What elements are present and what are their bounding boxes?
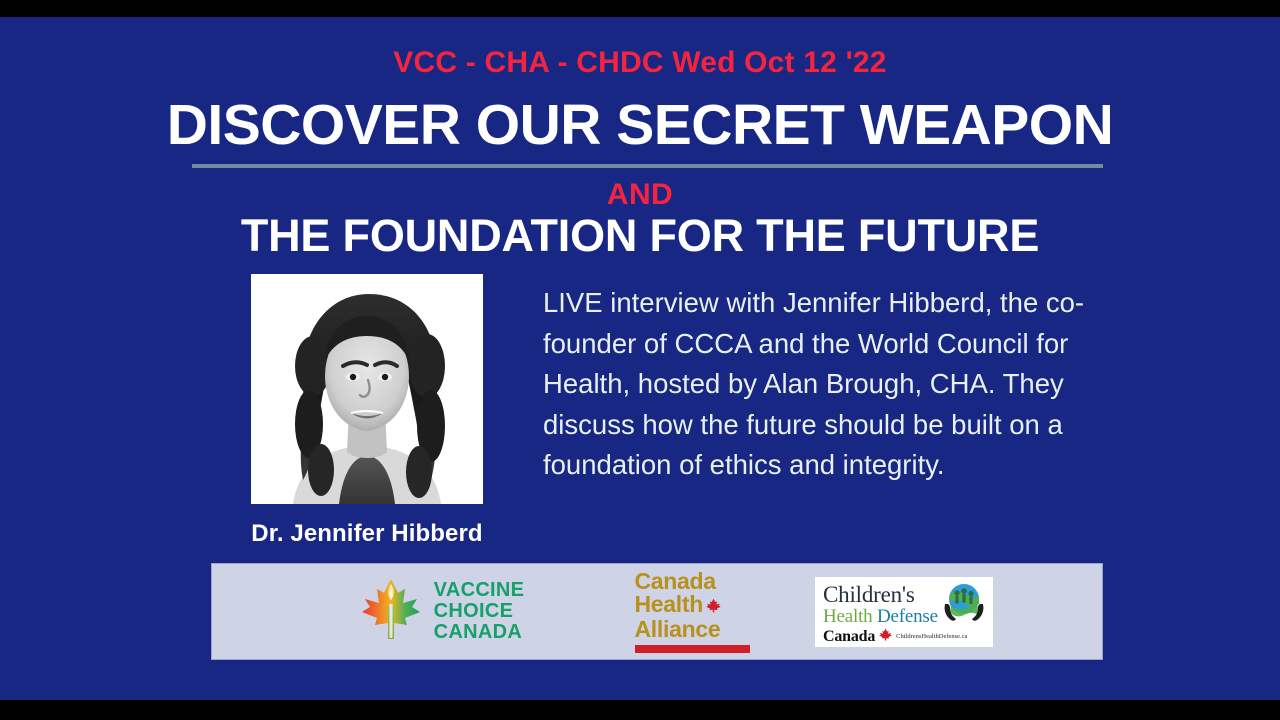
guest-name-caption: Dr. Jennifer Hibberd xyxy=(200,520,534,548)
logo-canada-health-alliance[interactable]: Canada Health Alliance xyxy=(602,564,782,659)
headline-underline xyxy=(192,164,1103,168)
cha-underline xyxy=(635,645,750,653)
logo-vaccine-choice-canada[interactable]: VACCINE CHOICE CANADA xyxy=(292,564,592,659)
guest-portrait-photo xyxy=(251,274,483,504)
chd-website-url: ChildrensHealthDefense.ca xyxy=(896,633,967,640)
logo-childrens-health-defense-canada[interactable]: Children's Health Defense Canada Childre… xyxy=(804,564,1004,659)
chd-health-word: Health xyxy=(823,606,872,627)
event-eyebrow: VCC - CHA - CHDC Wed Oct 12 '22 xyxy=(0,46,1280,80)
sponsor-logo-bar: VACCINE CHOICE CANADA Canada Health Alli… xyxy=(211,563,1103,660)
session-description: LIVE interview with Jennifer Hibberd, th… xyxy=(543,283,1119,486)
headline-primary: DISCOVER OUR SECRET WEAPON xyxy=(0,97,1280,154)
letterbox-bottom xyxy=(0,700,1280,720)
chd-canada-word: Canada xyxy=(823,628,875,646)
slide-stage: VCC - CHA - CHDC Wed Oct 12 '22 DISCOVER… xyxy=(0,0,1280,720)
cha-line-1: Canada xyxy=(635,570,750,594)
letterbox-top xyxy=(0,0,1280,17)
cha-line-2: Health xyxy=(635,591,704,617)
globe-hands-icon xyxy=(941,582,987,631)
vcc-line-2: CHOICE xyxy=(434,600,514,622)
maple-leaf-icon xyxy=(706,594,721,618)
presentation-slide: VCC - CHA - CHDC Wed Oct 12 '22 DISCOVER… xyxy=(0,17,1280,700)
cha-line-2-row: Health xyxy=(635,593,750,618)
vcc-line-3: CANADA xyxy=(434,621,522,643)
cha-line-3: Alliance xyxy=(635,618,750,642)
headline-secondary: THE FOUNDATION FOR THE FUTURE xyxy=(0,213,1280,258)
vcc-line-1: VACCINE xyxy=(434,579,525,601)
maple-leaf-icon xyxy=(879,628,892,646)
headline-connector: AND xyxy=(0,178,1280,212)
vcc-wordmark: VACCINE CHOICE CANADA xyxy=(434,580,525,643)
chd-defense-word: Defense xyxy=(877,606,938,627)
maple-leaf-candle-icon xyxy=(360,576,422,647)
portrait-illustration xyxy=(251,274,483,504)
